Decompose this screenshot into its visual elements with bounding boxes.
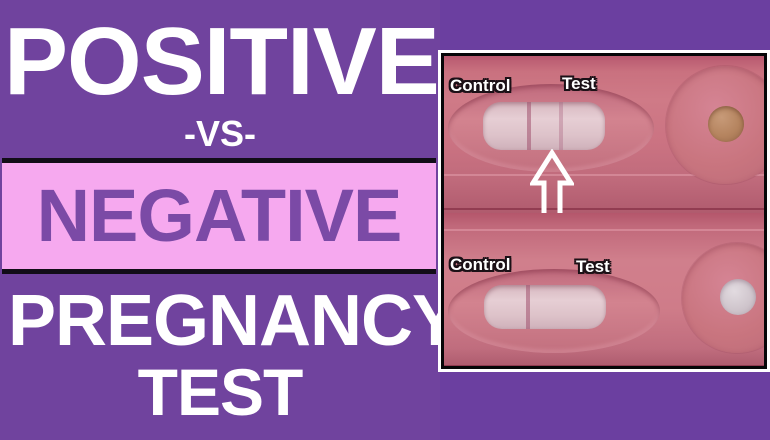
label-test-top: Test	[562, 74, 596, 94]
test-photo-panel: Control Test Control Tes	[438, 50, 770, 372]
positive-test-photo: Control Test	[444, 56, 764, 213]
title-versus: -VS-	[0, 112, 440, 156]
result-window-top	[483, 102, 605, 150]
title-panel: POSITIVE -VS- NEGATIVE PREGNANCY TEST	[0, 0, 440, 440]
label-control-top: Control	[450, 76, 510, 96]
title-negative: NEGATIVE	[2, 175, 436, 257]
test-line-top	[559, 102, 563, 150]
label-control-bottom: Control	[450, 255, 510, 275]
thumbnail-canvas: POSITIVE -VS- NEGATIVE PREGNANCY TEST	[0, 0, 770, 440]
sample-well-center-bottom	[720, 279, 756, 315]
title-test: TEST	[0, 355, 440, 429]
title-positive: POSITIVE	[0, 6, 440, 118]
title-pregnancy: PREGNANCY	[0, 282, 440, 360]
photo-frame: Control Test Control Tes	[441, 53, 767, 369]
result-window-bottom	[484, 285, 606, 329]
label-test-bottom: Test	[576, 257, 610, 277]
control-line-top	[527, 102, 531, 150]
sample-well-center-top	[708, 106, 744, 142]
negative-banner: NEGATIVE	[2, 158, 436, 274]
control-line-bottom	[526, 285, 530, 329]
negative-test-photo: Control Test	[444, 213, 764, 369]
